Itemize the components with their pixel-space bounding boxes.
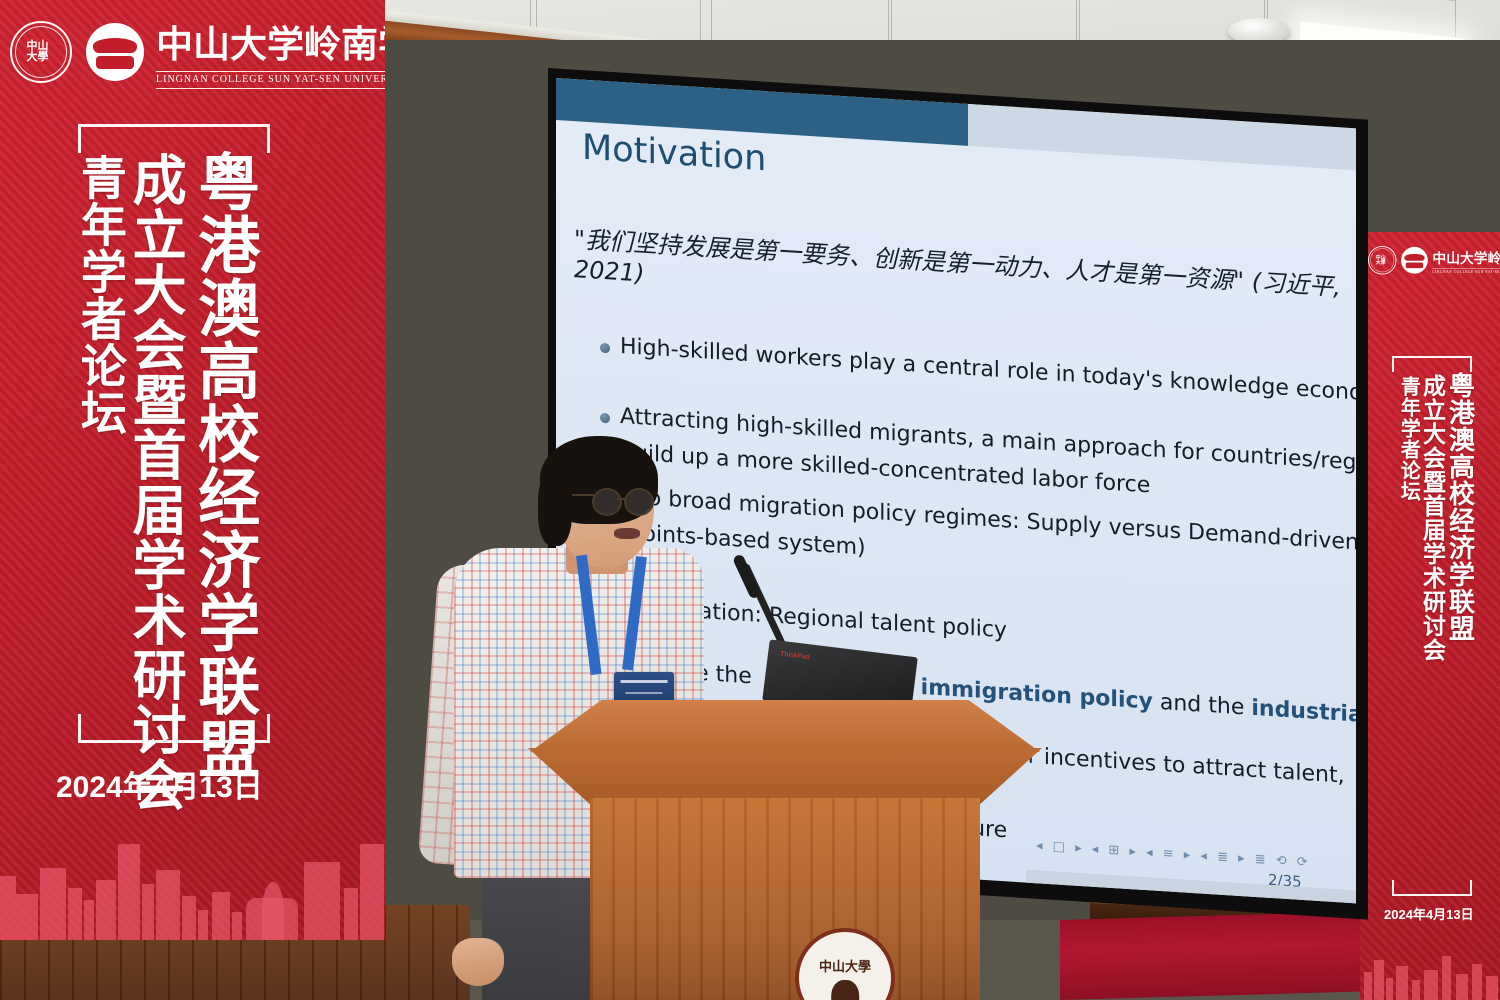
right-banner-column-3: 青年学者论坛 bbox=[1398, 376, 1418, 502]
bullet-5-bold-2: industrial policy bbox=[1251, 696, 1356, 734]
slide-quote-line-2: 2021) bbox=[574, 255, 644, 287]
beamer-navigation-icons[interactable]: ◂ □ ▸ ◂ ⊞ ▸ ◂ ≡ ▸ ◂ ≣ ▸ ≣ ⟲ ⟳ bbox=[1036, 838, 1311, 870]
slide-bullet-1-line-1: High-skilled workers play a central role… bbox=[620, 334, 1356, 408]
podium-top-surface bbox=[530, 700, 1040, 752]
bullet-marker-1 bbox=[600, 343, 610, 354]
speaker-mouth bbox=[614, 528, 640, 539]
left-banner-column-2: 成立大会暨首届学术研讨会 bbox=[126, 152, 181, 812]
bullet-marker-2 bbox=[600, 413, 610, 424]
seal-label: 中山大學 bbox=[27, 41, 56, 63]
laptop-brand-label: ThinkPad bbox=[780, 651, 810, 662]
bullet-5-text-b: and the bbox=[1153, 690, 1251, 721]
left-banner-column-3: 青年学者论坛 bbox=[76, 154, 123, 436]
left-banner-org-en: LINGNAN COLLEGE SUN YAT-SEN UNIVERSITY bbox=[156, 74, 385, 85]
right-banner-org-cn: 中山大学岭南学院 bbox=[1432, 247, 1500, 267]
right-banner-column-2: 成立大会暨首届学术研讨会 bbox=[1420, 374, 1443, 662]
bracket-top bbox=[78, 124, 270, 153]
right-banner-date: 2024年4月13日 bbox=[1384, 904, 1474, 923]
lingnan-mark-icon bbox=[86, 23, 144, 81]
bracket-bottom-right bbox=[1392, 880, 1472, 896]
left-banner-column-1: 粤港澳高校经济学联盟 bbox=[190, 150, 253, 780]
speaker-glasses-temple bbox=[572, 494, 594, 496]
podium-body bbox=[590, 798, 980, 1000]
right-banner-org-en: LINGNAN COLLEGE SUN YAT-SEN UNIVERSITY bbox=[1432, 270, 1500, 274]
left-banner-skyline bbox=[0, 820, 385, 940]
slide-title: Motivation bbox=[582, 128, 766, 180]
speaker-hair-side bbox=[538, 470, 572, 546]
conference-photo-scene: 开关 开关 开关 中山大學 中山大学岭南学院 LINGNAN COLLEGE S… bbox=[0, 0, 1500, 1000]
bracket-top-right bbox=[1392, 356, 1472, 372]
speaker-glasses-right-lens bbox=[624, 488, 654, 516]
slide-quote-line-1: "我们坚持发展是第一要务、创新是第一动力、人才是第一资源" (习近平, bbox=[574, 219, 1341, 302]
podium-front-bevel bbox=[528, 748, 1042, 804]
speaker-glasses-left-lens bbox=[592, 488, 622, 516]
speaker-glasses-bridge bbox=[617, 498, 626, 500]
left-banner-date: 2024年4月13日 bbox=[56, 762, 263, 806]
sysu-seal-icon-right: 中山大學 bbox=[1368, 246, 1397, 275]
left-banner-org-cn: 中山大学岭南学院 bbox=[156, 14, 385, 68]
seal-label-right: 中山大學 bbox=[1376, 255, 1389, 265]
right-event-banner: 中山大學 中山大学岭南学院 LINGNAN COLLEGE SUN YAT-SE… bbox=[1360, 232, 1500, 1000]
podium-emblem-text: 中山大學 bbox=[819, 956, 871, 975]
lingnan-mark-icon-right bbox=[1401, 247, 1428, 274]
sysu-seal-icon: 中山大學 bbox=[10, 21, 72, 83]
left-event-banner: 中山大學 中山大学岭南学院 LINGNAN COLLEGE SUN YAT-SE… bbox=[0, 0, 385, 940]
right-banner-column-1: 粤港澳高校经济学联盟 bbox=[1446, 372, 1473, 642]
speaker-hand bbox=[452, 938, 504, 986]
right-banner-skyline bbox=[1360, 948, 1500, 1000]
